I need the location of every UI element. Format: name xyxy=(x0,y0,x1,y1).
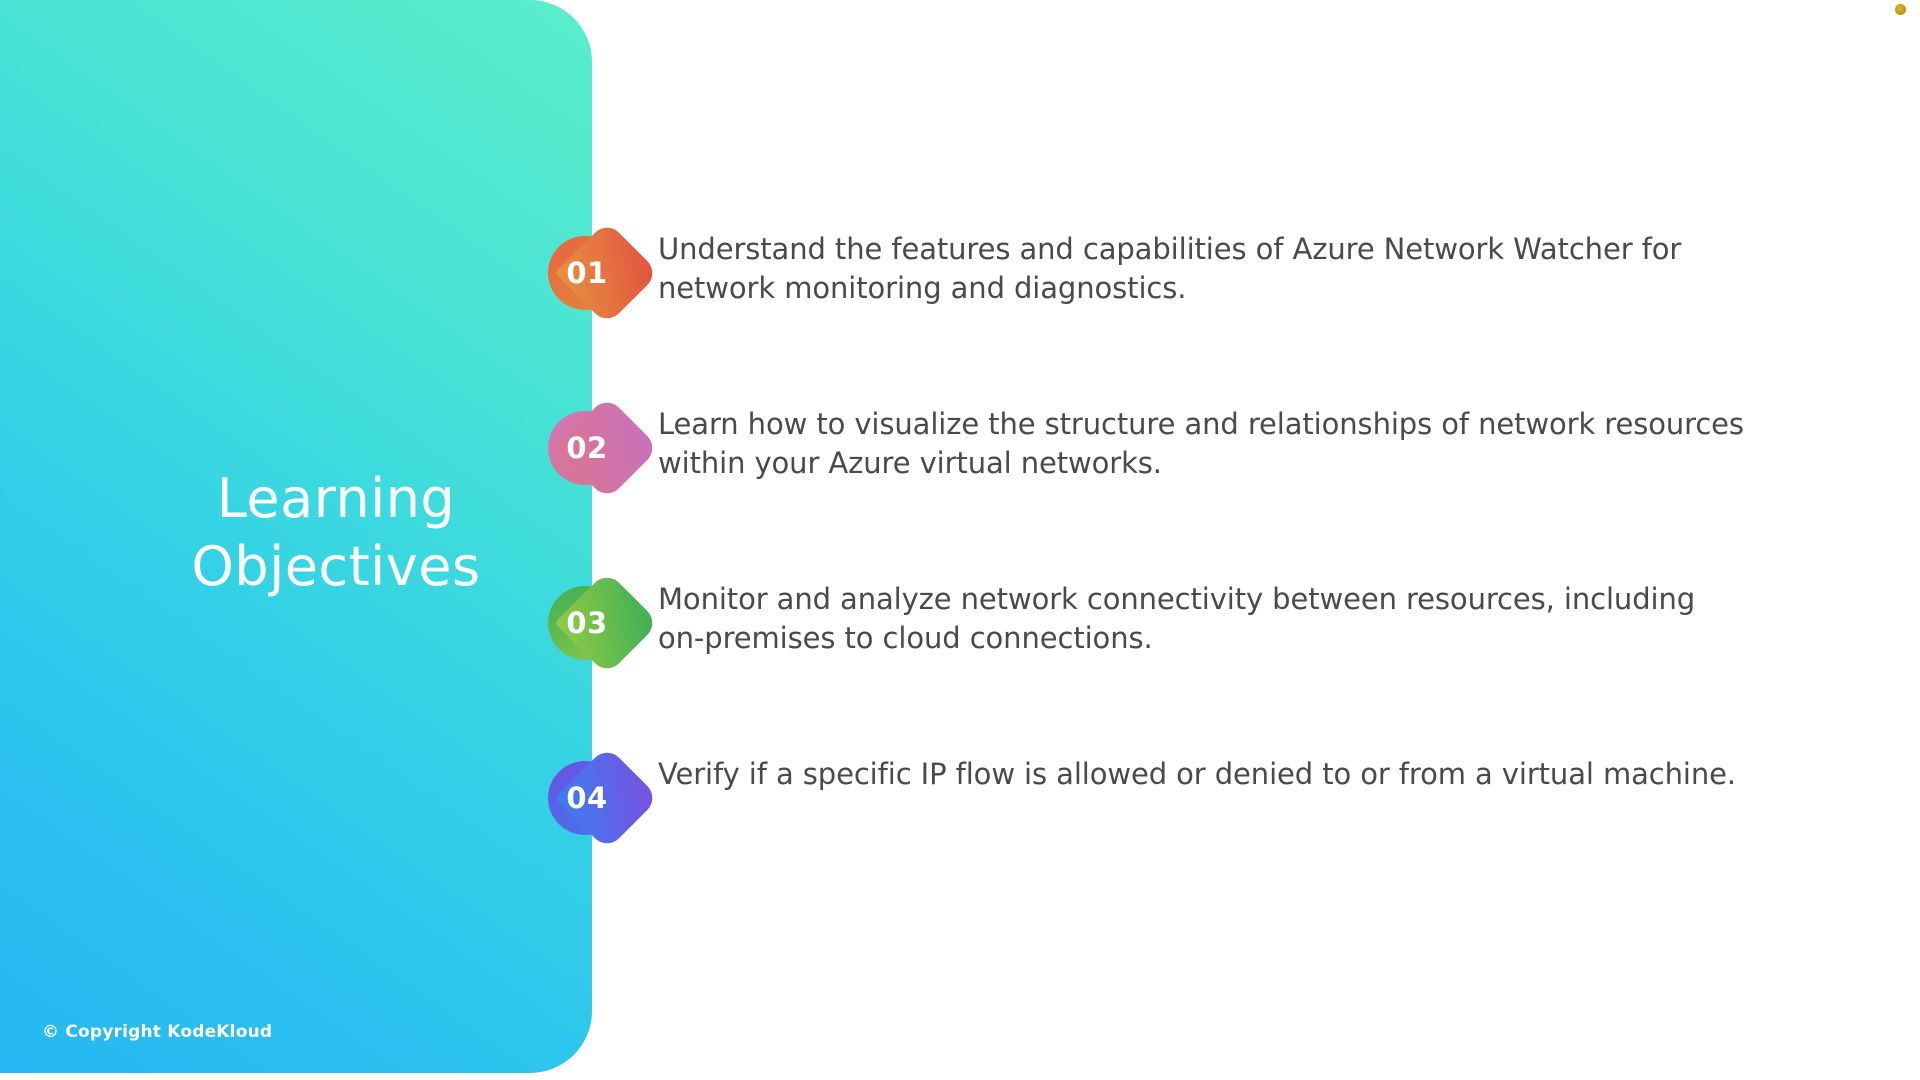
slide-root: Learning Objectives © Copyright KodeKlou… xyxy=(0,0,1920,1080)
objective-number-label: 03 xyxy=(548,586,626,660)
objective-number-label: 02 xyxy=(548,411,626,485)
objective-number-badge-01: 01 xyxy=(548,224,640,322)
list-item: 03 Monitor and analyze network connectiv… xyxy=(548,568,1878,743)
objective-number-label: 04 xyxy=(548,761,626,835)
copyright-notice: © Copyright KodeKloud xyxy=(42,1022,272,1042)
objective-number-label: 01 xyxy=(548,236,626,310)
objectives-list: 01 Understand the features and capabilit… xyxy=(548,218,1878,918)
corner-marker-dot xyxy=(1895,4,1906,15)
objective-text: Verify if a specific IP flow is allowed … xyxy=(658,755,1736,794)
objective-text: Monitor and analyze network connectivity… xyxy=(658,580,1748,658)
list-item: 01 Understand the features and capabilit… xyxy=(548,218,1878,393)
objective-text: Learn how to visualize the structure and… xyxy=(658,405,1748,483)
left-gradient-panel xyxy=(0,0,592,1073)
objective-number-badge-03: 03 xyxy=(548,574,640,672)
objective-number-badge-02: 02 xyxy=(548,399,640,497)
list-item: 02 Learn how to visualize the structure … xyxy=(548,393,1878,568)
list-item: 04 Verify if a specific IP flow is allow… xyxy=(548,743,1878,918)
objective-text: Understand the features and capabilities… xyxy=(658,230,1748,308)
objective-number-badge-04: 04 xyxy=(548,749,640,847)
